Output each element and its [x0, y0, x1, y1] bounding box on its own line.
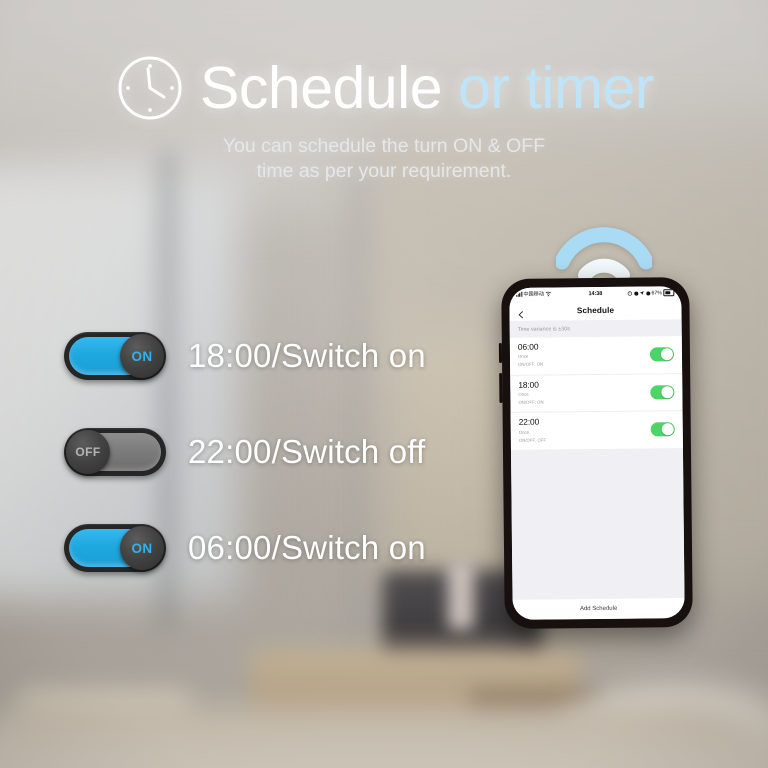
- list-item-toggle[interactable]: [651, 422, 675, 436]
- promo-graphic: Schedule or timer You can schedule the t…: [0, 0, 768, 768]
- list-item-action: ON/OFF: ON: [518, 361, 650, 369]
- list-item-text: 22:00 Once ON/OFF: OFF: [519, 417, 651, 444]
- wifi-signal-icon: [556, 222, 652, 278]
- rocker-switch-off[interactable]: OFF: [64, 428, 166, 476]
- schedule-toggle-list: ON 18:00/Switch on OFF 22:00/Switch off …: [64, 308, 494, 596]
- volume-down-button[interactable]: [499, 373, 502, 403]
- header: Schedule or timer You can schedule the t…: [0, 52, 768, 184]
- schedule-row: ON 06:00/Switch on: [64, 500, 494, 596]
- chevron-left-icon[interactable]: [516, 306, 525, 315]
- title-primary: Schedule: [200, 55, 442, 121]
- status-bar-left: 中国移动: [516, 290, 588, 298]
- list-empty-space: [511, 449, 685, 600]
- list-item-action: ON/OFF: ON: [518, 399, 650, 407]
- signal-bars-icon: [516, 292, 522, 297]
- subtitle-line-2: time as per your requirement.: [0, 159, 768, 184]
- status-bar-right: 67%: [602, 289, 674, 297]
- list-item[interactable]: 06:00 Once ON/OFF: ON: [510, 336, 682, 375]
- smartphone-mockup: 中国移动 14:38: [501, 277, 693, 629]
- switch-knob: ON: [120, 526, 164, 570]
- list-item-repeat: Once: [518, 390, 650, 398]
- list-item-time: 18:00: [518, 379, 650, 390]
- list-item-repeat: Once: [518, 353, 650, 361]
- list-item-text: 06:00 Once ON/OFF: ON: [518, 341, 650, 368]
- list-item[interactable]: 18:00 Once ON/OFF: ON: [510, 374, 682, 413]
- schedule-row-label: 06:00/Switch on: [188, 529, 426, 567]
- list-item-action: ON/OFF: OFF: [519, 436, 651, 444]
- subtitle-line-1: You can schedule the turn ON & OFF: [0, 134, 768, 159]
- switch-knob: ON: [120, 334, 164, 378]
- rocker-switch-on[interactable]: ON: [64, 524, 166, 572]
- title-secondary: or timer: [442, 55, 654, 121]
- battery-icon: [663, 289, 674, 296]
- schedule-row-label: 18:00/Switch on: [188, 337, 426, 375]
- schedule-row: ON 18:00/Switch on: [64, 308, 494, 404]
- list-item-time: 06:00: [518, 341, 650, 352]
- volume-up-button[interactable]: [499, 343, 502, 363]
- switch-knob: OFF: [66, 430, 110, 474]
- alarm-icon: [627, 291, 632, 296]
- list-item-text: 18:00 Once ON/OFF: ON: [518, 379, 650, 406]
- page-title: Schedule or timer: [200, 59, 654, 118]
- list-item-time: 22:00: [519, 417, 651, 428]
- app-navbar: Schedule: [509, 299, 681, 321]
- schedule-list: 06:00 Once ON/OFF: ON 18:00 Once ON/OFF:…: [510, 336, 683, 451]
- do-not-disturb-icon: [646, 291, 650, 295]
- time-variance-hint: Time variance is ±30s: [510, 319, 682, 338]
- title-row: Schedule or timer: [0, 52, 768, 124]
- list-item-toggle[interactable]: [650, 385, 674, 399]
- rocker-switch-on[interactable]: ON: [64, 332, 166, 380]
- phone-screen: 中国移动 14:38: [509, 286, 684, 620]
- app-title: Schedule: [577, 305, 614, 314]
- carrier-label: 中国移动: [523, 291, 544, 298]
- add-schedule-button[interactable]: Add Schedule: [513, 598, 685, 620]
- list-item-toggle[interactable]: [650, 347, 674, 361]
- battery-percent-label: 67%: [651, 290, 661, 296]
- clock-icon: [114, 52, 186, 124]
- bluetooth-icon: [634, 291, 638, 295]
- status-bar-clock: 14:38: [588, 290, 602, 296]
- subtitle: You can schedule the turn ON & OFF time …: [0, 134, 768, 184]
- location-arrow-icon: [639, 290, 644, 295]
- schedule-row-label: 22:00/Switch off: [188, 433, 425, 471]
- list-item-repeat: Once: [519, 428, 651, 436]
- wifi-icon: [546, 291, 552, 296]
- schedule-row: OFF 22:00/Switch off: [64, 404, 494, 500]
- list-item[interactable]: 22:00 Once ON/OFF: OFF: [511, 411, 683, 450]
